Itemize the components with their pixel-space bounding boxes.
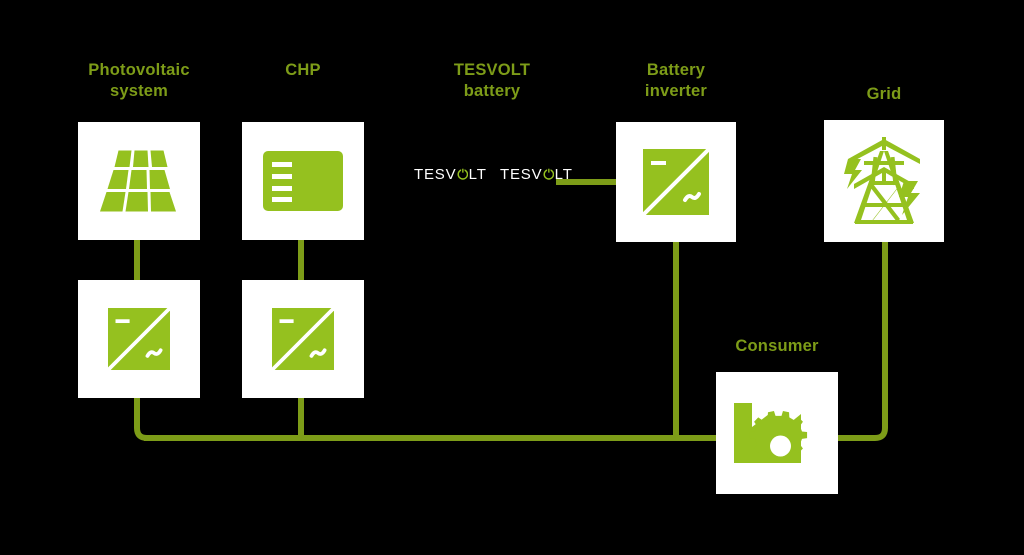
chp-unit-icon xyxy=(242,122,364,240)
tesvolt-logo-text-before: TESV xyxy=(500,166,542,183)
node-chp[interactable] xyxy=(242,122,364,240)
power-pylon-icon xyxy=(824,120,944,242)
label-tesvolt-battery: TESVOLT battery xyxy=(402,60,582,102)
tesvolt-logo-text-after: LT xyxy=(555,166,573,183)
label-battery-inverter: Battery inverter xyxy=(586,60,766,102)
node-battery-inverter[interactable] xyxy=(616,122,736,242)
power-o-icon xyxy=(543,167,555,179)
node-chp-inverter[interactable] xyxy=(242,280,364,398)
node-grid[interactable] xyxy=(824,120,944,242)
tesvolt-logo-text-after: LT xyxy=(469,166,487,183)
label-photovoltaic-system: Photovoltaic system xyxy=(49,60,229,102)
factory-gear-icon xyxy=(716,372,838,494)
node-pv-inverter[interactable] xyxy=(78,280,200,398)
label-consumer: Consumer xyxy=(687,336,867,357)
tesvolt-logo-text-before: TESV xyxy=(414,166,456,183)
solar-panel-icon xyxy=(78,122,200,240)
diagram-canvas: Photovoltaic system CHP TESVOLT battery … xyxy=(0,0,1024,555)
label-chp: CHP xyxy=(213,60,393,81)
node-consumer[interactable] xyxy=(716,372,838,494)
inverter-icon xyxy=(78,280,200,398)
line-pvinverter-to-bus xyxy=(137,396,200,438)
tesvolt-logo-1: TESVLT xyxy=(414,166,487,183)
power-o-icon xyxy=(457,167,469,179)
tesvolt-logo-2: TESVLT xyxy=(500,166,573,183)
node-photovoltaic-system[interactable] xyxy=(78,122,200,240)
inverter-icon xyxy=(242,280,364,398)
inverter-icon xyxy=(616,122,736,242)
label-grid: Grid xyxy=(794,84,974,105)
